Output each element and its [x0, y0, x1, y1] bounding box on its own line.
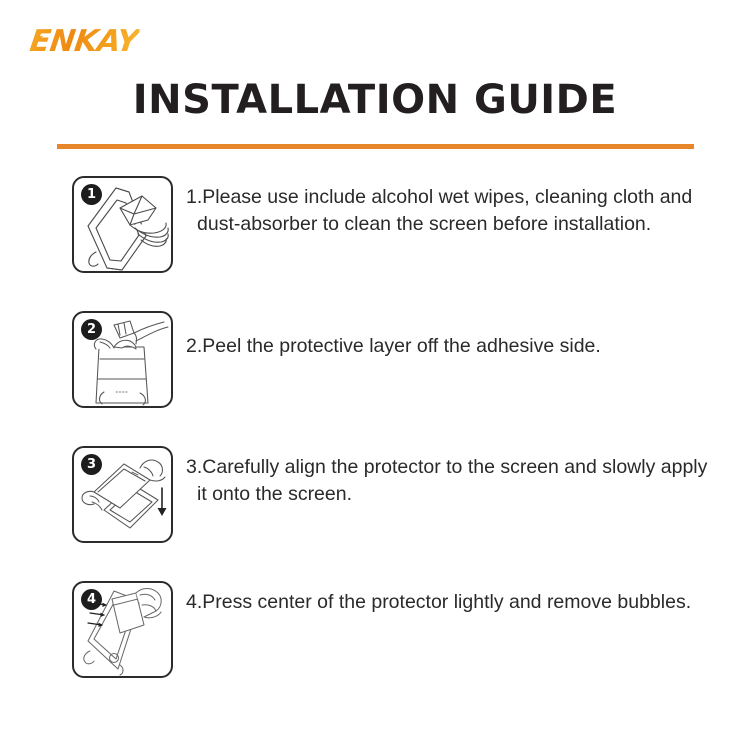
page-title: INSTALLATION GUIDE	[0, 78, 750, 122]
list-item: 2	[0, 311, 750, 446]
installation-guide-page: ENKAY INSTALLATION GUIDE 1	[0, 0, 750, 750]
step-number-badge: 2	[81, 319, 102, 340]
step-description: 4.Press center of the protector lightly …	[186, 581, 750, 616]
align-protector-arrow-illustration: 3	[72, 446, 173, 543]
step-number-badge: 4	[81, 589, 102, 610]
step-description: 3.Carefully align the protector to the s…	[186, 446, 750, 508]
list-item: 4	[0, 581, 750, 716]
step-number-badge: 1	[81, 184, 102, 205]
peel-protective-layer-illustration: 2	[72, 311, 173, 408]
title-divider	[57, 144, 694, 149]
list-item: 3	[0, 446, 750, 581]
press-squeegee-bubbles-illustration: 4	[72, 581, 173, 678]
phone-wipe-cloth-illustration: 1	[72, 176, 173, 273]
steps-list: 1	[0, 176, 750, 716]
list-item: 1	[0, 176, 750, 311]
brand-name: ENKAY	[28, 27, 140, 57]
step-description: 1.Please use include alcohol wet wipes, …	[186, 176, 750, 238]
brand-logo: ENKAY	[30, 24, 138, 60]
step-number-badge: 3	[81, 454, 102, 475]
step-description: 2.Peel the protective layer off the adhe…	[186, 311, 750, 360]
